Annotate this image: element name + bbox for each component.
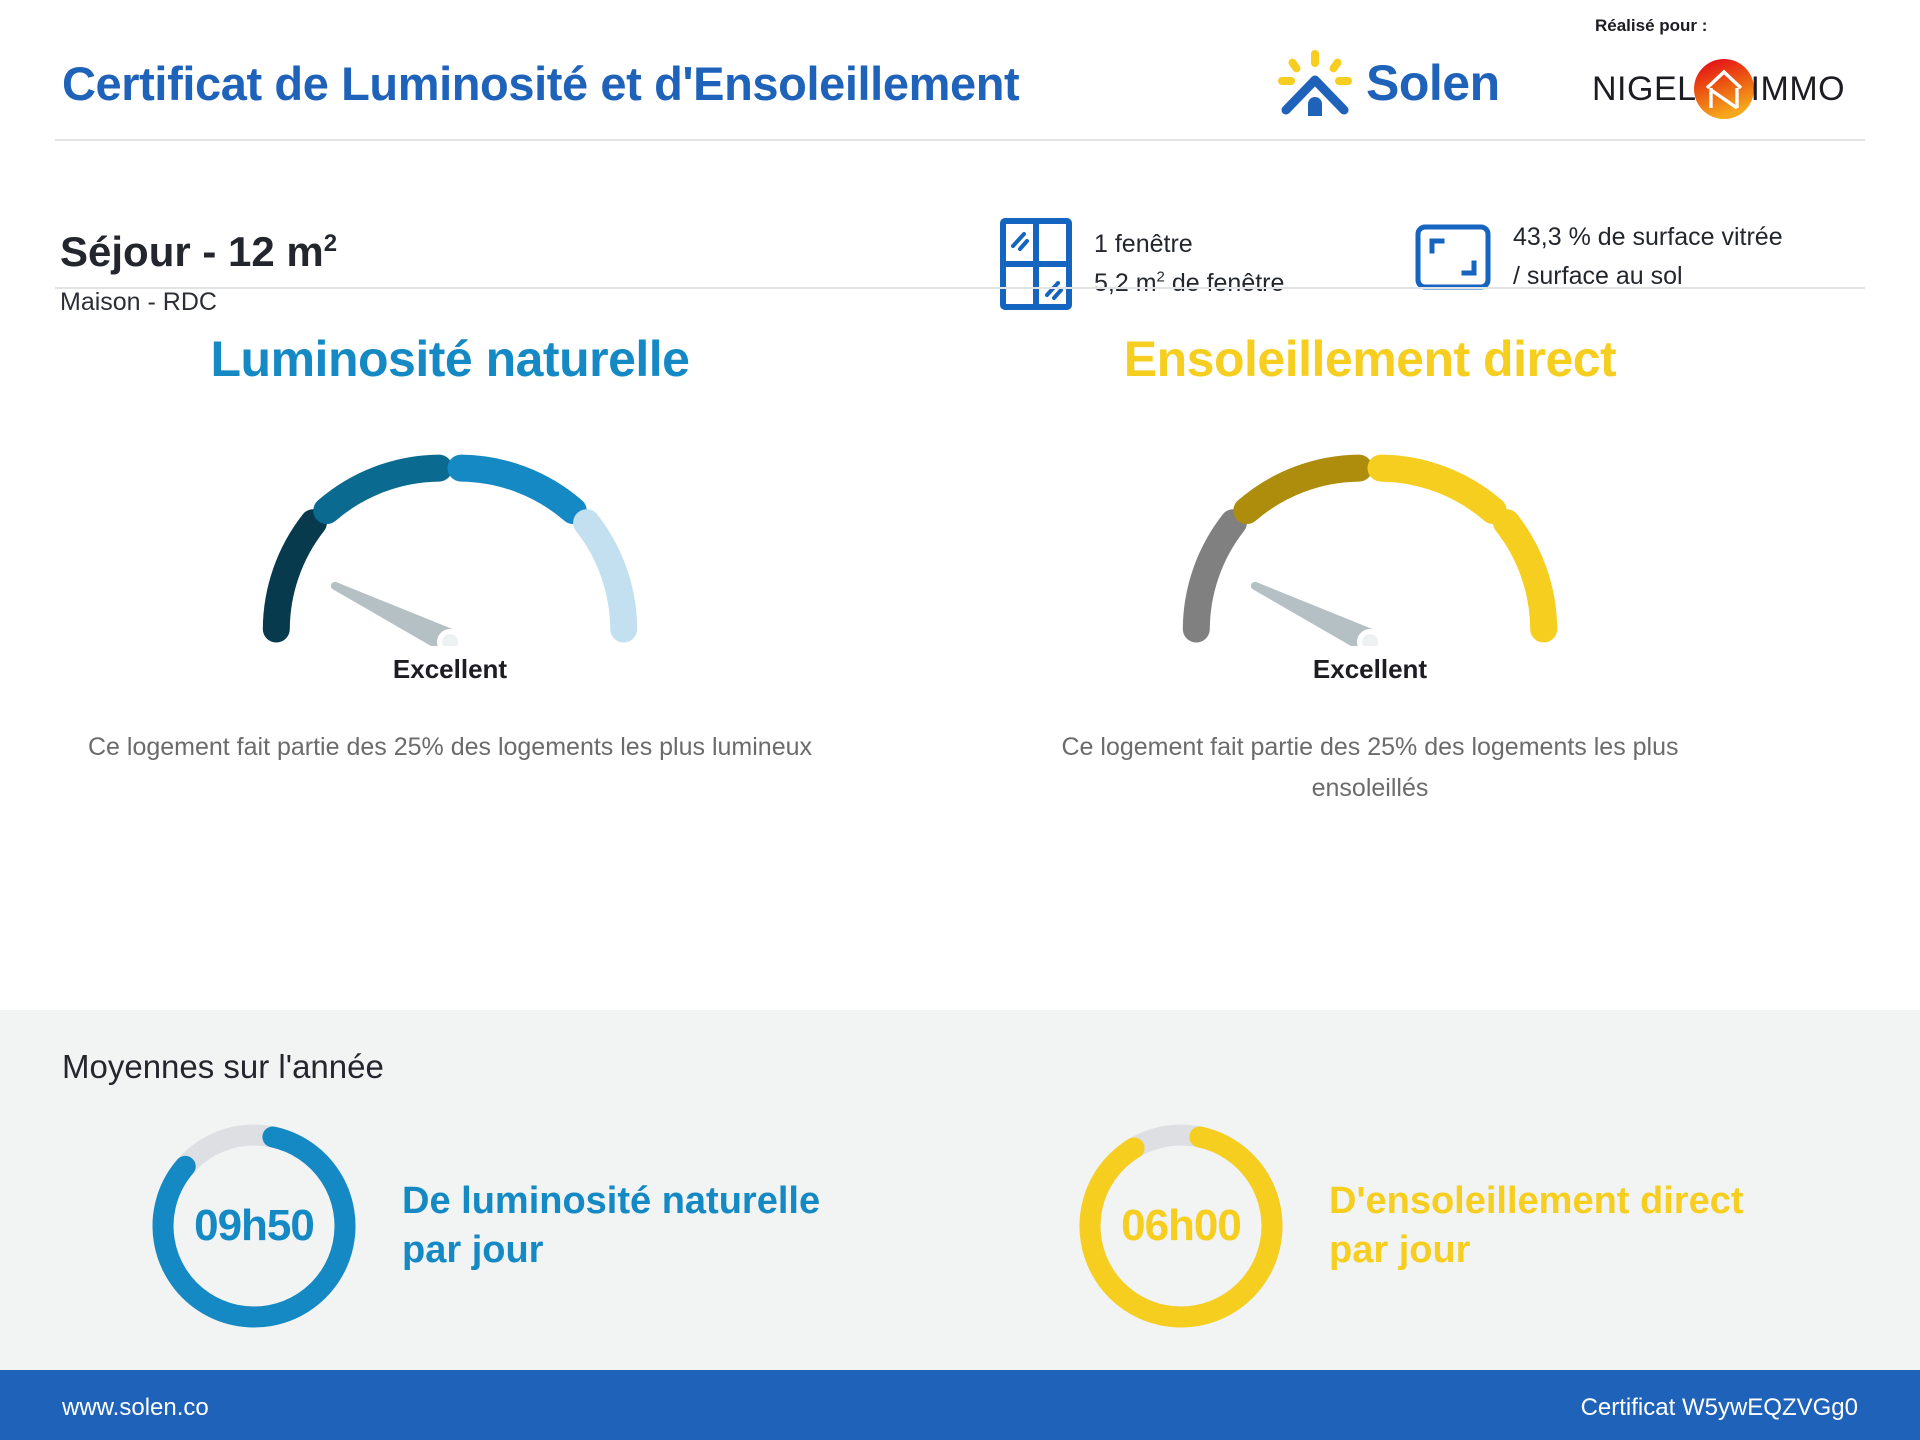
immo-text: IMMO: [1751, 70, 1846, 109]
gauge-luminosite-dial: [0, 406, 900, 646]
gauge-ensoleillement-dial: [920, 406, 1820, 646]
footer-certificate-id: Certificat W5ywEQZVGg0: [1581, 1394, 1858, 1422]
certificate-page: Certificat de Luminosité et d'Ensoleille…: [0, 0, 1920, 1440]
header: Certificat de Luminosité et d'Ensoleille…: [0, 0, 1920, 160]
ensoleillement-average-label: D'ensoleillement direct par jour: [1329, 1177, 1744, 1274]
window-area-exponent: 2: [1157, 269, 1165, 286]
average-luminosite: 09h50 De luminosité naturelle par jour: [148, 1120, 820, 1332]
gauge-segment-2: [1247, 468, 1359, 511]
surface-info-block: 43,3 % de surface vitrée / surface au so…: [1415, 218, 1783, 296]
window-icon: [1000, 218, 1072, 310]
gauge-segment-4: [1507, 523, 1544, 629]
header-divider: [55, 139, 1865, 141]
ensoleillement-donut: 06h00: [1075, 1120, 1287, 1332]
room-info-divider: [55, 287, 1865, 289]
surface-ratio-denominator: / surface au sol: [1513, 257, 1783, 296]
sun-house-icon: [1278, 50, 1352, 116]
gauge-segment-3: [461, 468, 573, 511]
gauge-luminosite-heading: Luminosité naturelle: [0, 330, 900, 388]
gauges-section: Luminosité naturelle Excellent Ce: [0, 330, 1920, 820]
average-ensoleillement: 06h00 D'ensoleillement direct par jour: [1075, 1120, 1744, 1332]
nigel-text: NIGEL: [1592, 70, 1697, 109]
window-info-block: 1 fenêtre 5,2 m2 de fenêtre: [1000, 218, 1284, 310]
gauge-ensoleillement-rating: Excellent: [920, 654, 1820, 685]
page-title: Certificat de Luminosité et d'Ensoleille…: [62, 56, 1019, 111]
gauge-ensoleillement: Ensoleillement direct Excellent Ce: [920, 330, 1820, 808]
gauge-ensoleillement-needle: [1246, 572, 1383, 646]
solen-wordmark: Solen: [1366, 54, 1500, 112]
realise-pour-label: Réalisé pour :: [1595, 16, 1707, 36]
footer: www.solen.co Certificat W5ywEQZVGg0: [0, 1370, 1920, 1440]
gauge-luminosite: Luminosité naturelle Excellent Ce: [0, 330, 900, 768]
luminosite-donut: 09h50: [148, 1120, 360, 1332]
house-monogram-icon: [1693, 58, 1755, 120]
ensoleillement-hours-value: 06h00: [1075, 1120, 1287, 1332]
window-area: 5,2 m2 de fenêtre: [1094, 264, 1284, 303]
averages-band: Moyennes sur l'année 09h50 De luminosité…: [0, 1010, 1920, 1370]
footer-website-link[interactable]: www.solen.co: [62, 1394, 209, 1422]
window-info-text: 1 fenêtre 5,2 m2 de fenêtre: [1094, 225, 1284, 303]
window-area-suffix: de fenêtre: [1165, 269, 1285, 297]
gauge-luminosite-description: Ce logement fait partie des 25% des loge…: [80, 727, 820, 768]
nigel-immo-logo: NIGEL IMMO: [1592, 58, 1845, 120]
luminosite-average-label: De luminosité naturelle par jour: [402, 1177, 820, 1274]
room-title-text: Séjour - 12 m: [60, 228, 324, 275]
gauge-luminosite-needle: [326, 572, 463, 646]
room-title-exponent: 2: [324, 230, 337, 257]
window-count: 1 fenêtre: [1094, 225, 1284, 264]
gauge-ensoleillement-description: Ce logement fait partie des 25% des loge…: [1000, 727, 1740, 808]
solen-logo: Solen: [1278, 50, 1500, 116]
surface-area-icon: [1415, 224, 1491, 290]
gauge-luminosite-svg: [200, 406, 700, 646]
gauge-segment-1: [276, 523, 313, 629]
window-area-value: 5,2 m: [1094, 269, 1157, 297]
room-location: Maison - RDC: [60, 288, 217, 317]
gauge-segment-2: [327, 468, 439, 511]
surface-ratio: 43,3 % de surface vitrée: [1513, 218, 1783, 257]
surface-info-text: 43,3 % de surface vitrée / surface au so…: [1513, 218, 1783, 296]
gauge-segment-3: [1381, 468, 1493, 511]
gauge-ensoleillement-svg: [1120, 406, 1620, 646]
gauge-ensoleillement-heading: Ensoleillement direct: [920, 330, 1820, 388]
gauge-segment-4: [587, 523, 624, 629]
luminosite-hours-value: 09h50: [148, 1120, 360, 1332]
room-title: Séjour - 12 m2: [60, 228, 337, 276]
averages-title: Moyennes sur l'année: [62, 1048, 384, 1086]
gauge-luminosite-rating: Excellent: [0, 654, 900, 685]
gauge-segment-1: [1196, 523, 1233, 629]
